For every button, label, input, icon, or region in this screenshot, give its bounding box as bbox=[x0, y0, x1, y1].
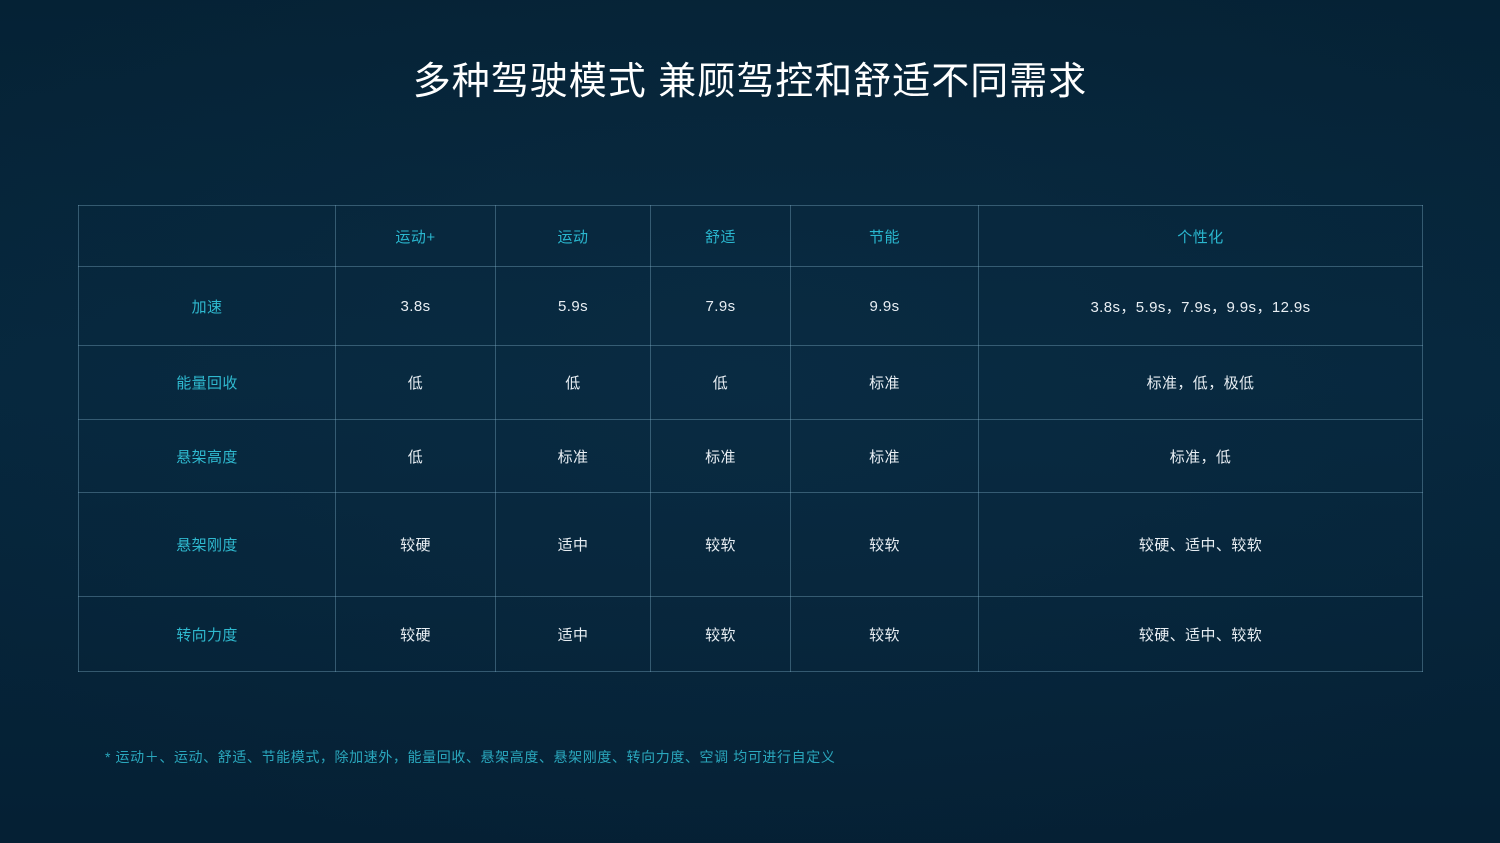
cell-acceleration-sport: 5.9s bbox=[496, 267, 651, 346]
cell-energy-recovery-sport-plus: 低 bbox=[336, 346, 496, 420]
cell-steering-effort-comfort: 较软 bbox=[651, 597, 791, 672]
drive-mode-comparison-table: 运动+ 运动 舒适 节能 个性化 加速 3.8s 5.9s 7.9s 9.9s … bbox=[78, 205, 1423, 672]
cell-suspension-height-comfort: 标准 bbox=[651, 420, 791, 493]
page-title: 多种驾驶模式 兼顾驾控和舒适不同需求 bbox=[0, 58, 1500, 107]
table-body: 加速 3.8s 5.9s 7.9s 9.9s 3.8s，5.9s，7.9s，9.… bbox=[79, 267, 1423, 672]
column-header-sport-plus: 运动+ bbox=[336, 206, 496, 267]
table-row: 加速 3.8s 5.9s 7.9s 9.9s 3.8s，5.9s，7.9s，9.… bbox=[79, 267, 1423, 346]
cell-acceleration-custom: 3.8s，5.9s，7.9s，9.9s，12.9s bbox=[979, 267, 1423, 346]
column-header-eco: 节能 bbox=[791, 206, 979, 267]
column-header-sport: 运动 bbox=[496, 206, 651, 267]
column-header-comfort: 舒适 bbox=[651, 206, 791, 267]
cell-suspension-height-sport-plus: 低 bbox=[336, 420, 496, 493]
cell-suspension-stiffness-custom: 较硬、适中、较软 bbox=[979, 493, 1423, 597]
table-row: 悬架高度 低 标准 标准 标准 标准，低 bbox=[79, 420, 1423, 493]
footnote-text: * 运动＋、运动、舒适、节能模式，除加速外，能量回收、悬架高度、悬架刚度、转向力… bbox=[105, 747, 835, 767]
row-label-energy-recovery: 能量回收 bbox=[79, 346, 336, 420]
table-corner-cell bbox=[79, 206, 336, 267]
column-header-custom: 个性化 bbox=[979, 206, 1423, 267]
row-label-acceleration: 加速 bbox=[79, 267, 336, 346]
cell-steering-effort-eco: 较软 bbox=[791, 597, 979, 672]
cell-suspension-height-eco: 标准 bbox=[791, 420, 979, 493]
cell-energy-recovery-eco: 标准 bbox=[791, 346, 979, 420]
table-row: 悬架刚度 较硬 适中 较软 较软 较硬、适中、较软 bbox=[79, 493, 1423, 597]
cell-suspension-stiffness-comfort: 较软 bbox=[651, 493, 791, 597]
cell-energy-recovery-custom: 标准，低，极低 bbox=[979, 346, 1423, 420]
cell-acceleration-sport-plus: 3.8s bbox=[336, 267, 496, 346]
slide-root: 多种驾驶模式 兼顾驾控和舒适不同需求 运动+ 运动 舒适 节能 个性化 加速 bbox=[0, 0, 1500, 843]
table-header-row: 运动+ 运动 舒适 节能 个性化 bbox=[79, 206, 1423, 267]
cell-suspension-stiffness-sport: 适中 bbox=[496, 493, 651, 597]
row-label-suspension-height: 悬架高度 bbox=[79, 420, 336, 493]
drive-mode-table-container: 运动+ 运动 舒适 节能 个性化 加速 3.8s 5.9s 7.9s 9.9s … bbox=[78, 205, 1422, 665]
table-row: 能量回收 低 低 低 标准 标准，低，极低 bbox=[79, 346, 1423, 420]
cell-steering-effort-sport-plus: 较硬 bbox=[336, 597, 496, 672]
cell-acceleration-comfort: 7.9s bbox=[651, 267, 791, 346]
row-label-steering-effort: 转向力度 bbox=[79, 597, 336, 672]
cell-acceleration-eco: 9.9s bbox=[791, 267, 979, 346]
cell-suspension-stiffness-eco: 较软 bbox=[791, 493, 979, 597]
table-header: 运动+ 运动 舒适 节能 个性化 bbox=[79, 206, 1423, 267]
cell-energy-recovery-comfort: 低 bbox=[651, 346, 791, 420]
cell-steering-effort-custom: 较硬、适中、较软 bbox=[979, 597, 1423, 672]
cell-suspension-height-custom: 标准，低 bbox=[979, 420, 1423, 493]
cell-energy-recovery-sport: 低 bbox=[496, 346, 651, 420]
cell-steering-effort-sport: 适中 bbox=[496, 597, 651, 672]
cell-suspension-stiffness-sport-plus: 较硬 bbox=[336, 493, 496, 597]
cell-suspension-height-sport: 标准 bbox=[496, 420, 651, 493]
row-label-suspension-stiffness: 悬架刚度 bbox=[79, 493, 336, 597]
table-row: 转向力度 较硬 适中 较软 较软 较硬、适中、较软 bbox=[79, 597, 1423, 672]
